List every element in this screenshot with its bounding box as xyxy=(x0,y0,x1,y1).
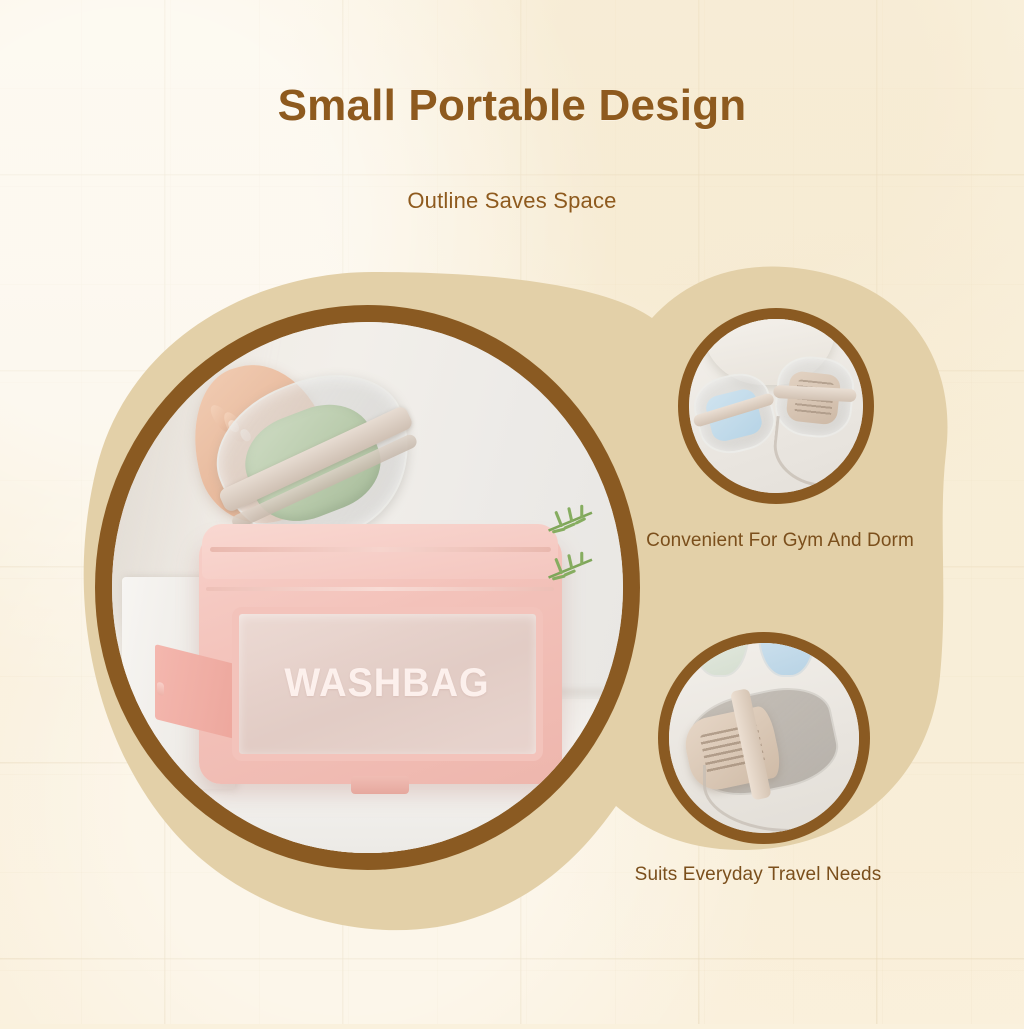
bag-wordmark: WASHBAG xyxy=(285,661,490,706)
feature-photo-image xyxy=(669,643,859,833)
zipper-seam xyxy=(206,587,554,591)
pink-washbag: WASHBAG xyxy=(199,534,562,784)
frosted-window: WASHBAG xyxy=(232,607,543,761)
feature-caption-gym-dorm: Convenient For Gym And Dorm xyxy=(630,528,930,554)
strap-loop xyxy=(158,682,164,696)
feature-caption-travel: Suits Everyday Travel Needs xyxy=(608,862,908,888)
main-product-photo: WASHBAG xyxy=(95,305,640,870)
headings-block: Small Portable Design Outline Saves Spac… xyxy=(0,82,1024,214)
feature-photo-image xyxy=(689,319,863,493)
case-blue xyxy=(758,643,816,677)
bag-lid xyxy=(202,524,558,579)
green-sprig-icon xyxy=(546,503,597,540)
case-green xyxy=(691,643,749,677)
main-photo-image: WASHBAG xyxy=(112,322,623,853)
green-sprig-icon xyxy=(546,550,597,587)
page-subtitle: Outline Saves Space xyxy=(0,188,1024,214)
page-title: Small Portable Design xyxy=(0,82,1024,130)
zipper xyxy=(210,547,551,552)
feature-photo-gym-dorm xyxy=(678,308,874,504)
background-cases xyxy=(684,643,844,673)
feature-photo-travel xyxy=(658,632,870,844)
bag-foot xyxy=(351,776,409,793)
